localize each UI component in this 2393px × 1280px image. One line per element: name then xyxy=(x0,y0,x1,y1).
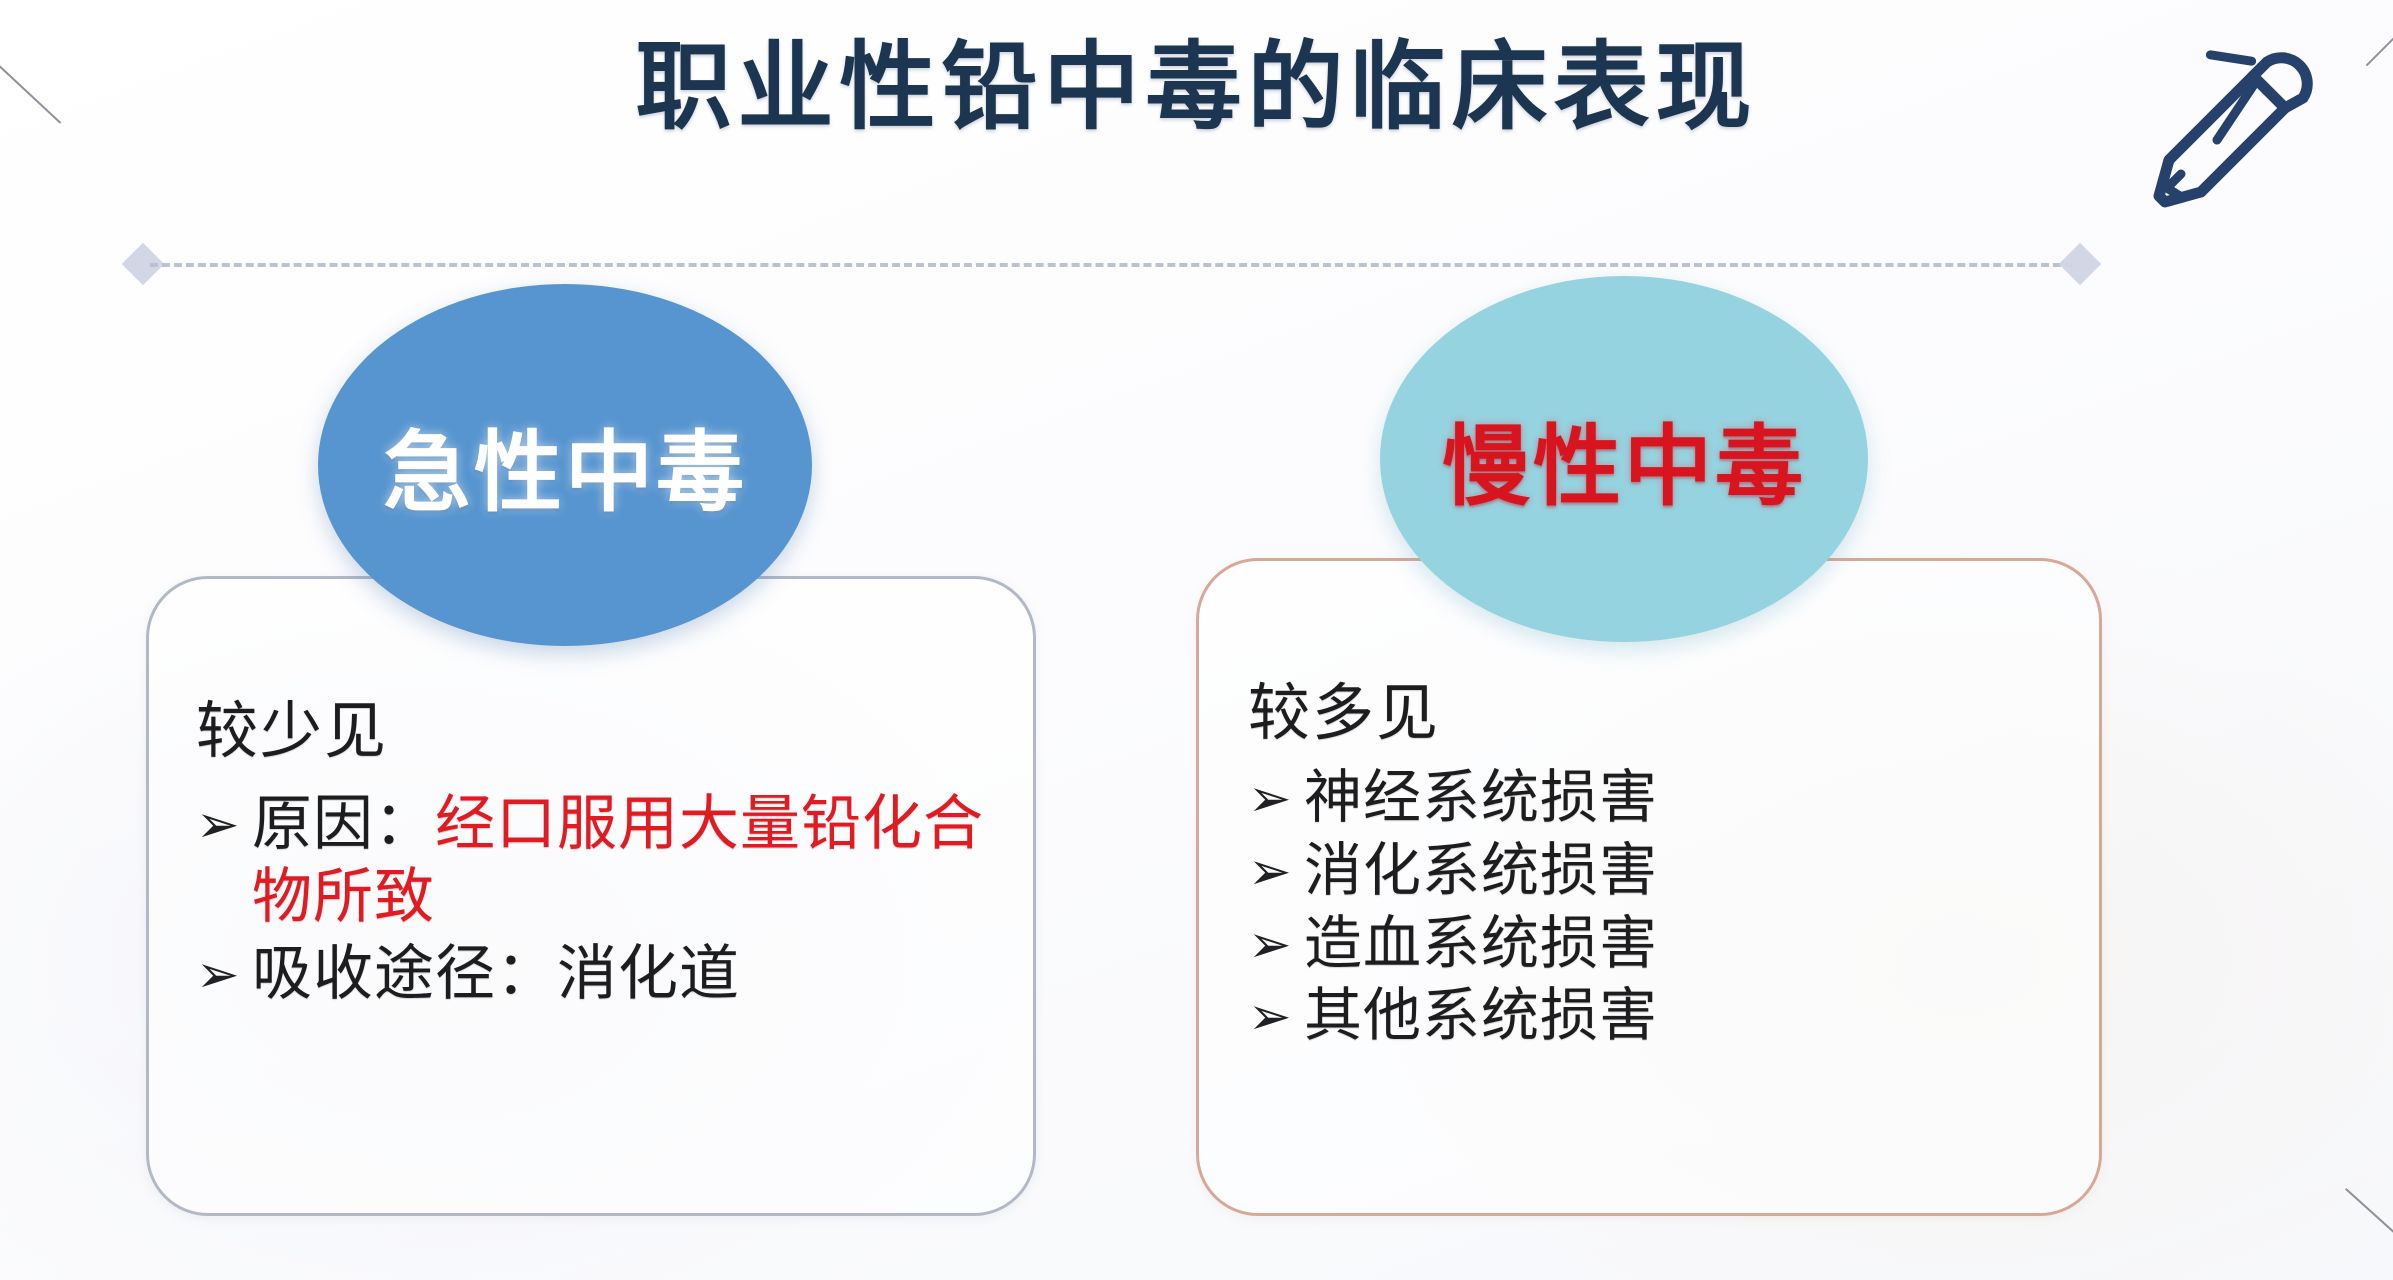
list-item-text: 造血系统损害 xyxy=(1304,908,2108,979)
panel-chronic-lead: 较多见 xyxy=(1248,662,2108,752)
list-item-text: 神经系统损害 xyxy=(1304,762,2108,833)
bullet-arrow-icon: ➢ xyxy=(196,788,252,857)
list-item: ➢ 造血系统损害 xyxy=(1248,908,2108,979)
bullet-prefix: 原因： xyxy=(252,789,435,859)
list-item-text: 吸收途径：消化道 xyxy=(252,938,1016,1011)
bullet-arrow-icon: ➢ xyxy=(1248,762,1304,831)
title-divider xyxy=(128,262,2095,266)
list-item: ➢ 原因：经口服用大量铅化合物所致 xyxy=(196,788,1016,934)
pen-icon xyxy=(2125,28,2345,228)
badge-acute-poisoning: 急性中毒 xyxy=(318,284,812,646)
list-item: ➢ 消化系统损害 xyxy=(1248,835,2108,906)
bullet-arrow-icon: ➢ xyxy=(196,938,252,1007)
list-item: ➢ 其他系统损害 xyxy=(1248,980,2108,1051)
panel-chronic-body: 较多见 ➢ 神经系统损害 ➢ 消化系统损害 ➢ 造血系统损害 ➢ 其他系统损害 xyxy=(1248,662,2108,1053)
bullet-arrow-icon: ➢ xyxy=(1248,835,1304,904)
panel-acute-lead: 较少见 xyxy=(196,680,1016,770)
page-title: 职业性铅中毒的临床表现 xyxy=(0,36,2393,140)
panel-chronic-bullet-list: ➢ 神经系统损害 ➢ 消化系统损害 ➢ 造血系统损害 ➢ 其他系统损害 xyxy=(1248,762,2108,1051)
bullet-prefix: 吸收途径：消化道 xyxy=(252,939,740,1009)
badge-chronic-poisoning: 慢性中毒 xyxy=(1380,276,1868,642)
bullet-arrow-icon: ➢ xyxy=(1248,908,1304,977)
diamond-right-icon xyxy=(2059,243,2101,285)
list-item-text: 原因：经口服用大量铅化合物所致 xyxy=(252,788,1016,934)
list-item-text: 其他系统损害 xyxy=(1304,980,2108,1051)
bullet-arrow-icon: ➢ xyxy=(1248,980,1304,1049)
badge-acute-label: 急性中毒 xyxy=(383,402,747,529)
corner-accent-bottom-right xyxy=(2345,1188,2393,1254)
panel-acute-body: 较少见 ➢ 原因：经口服用大量铅化合物所致 ➢ 吸收途径：消化道 xyxy=(196,680,1016,1016)
list-item: ➢ 吸收途径：消化道 xyxy=(196,938,1016,1011)
list-item-text: 消化系统损害 xyxy=(1304,835,2108,906)
panel-acute-bullet-list: ➢ 原因：经口服用大量铅化合物所致 ➢ 吸收途径：消化道 xyxy=(196,788,1016,1012)
badge-chronic-label: 慢性中毒 xyxy=(1442,396,1806,523)
slide-canvas: 职业性铅中毒的临床表现 急性中毒 较少见 ➢ 原因：经口服用大量铅化合物所 xyxy=(0,0,2393,1280)
list-item: ➢ 神经系统损害 xyxy=(1248,762,2108,833)
divider-dashed-line xyxy=(150,263,2073,267)
